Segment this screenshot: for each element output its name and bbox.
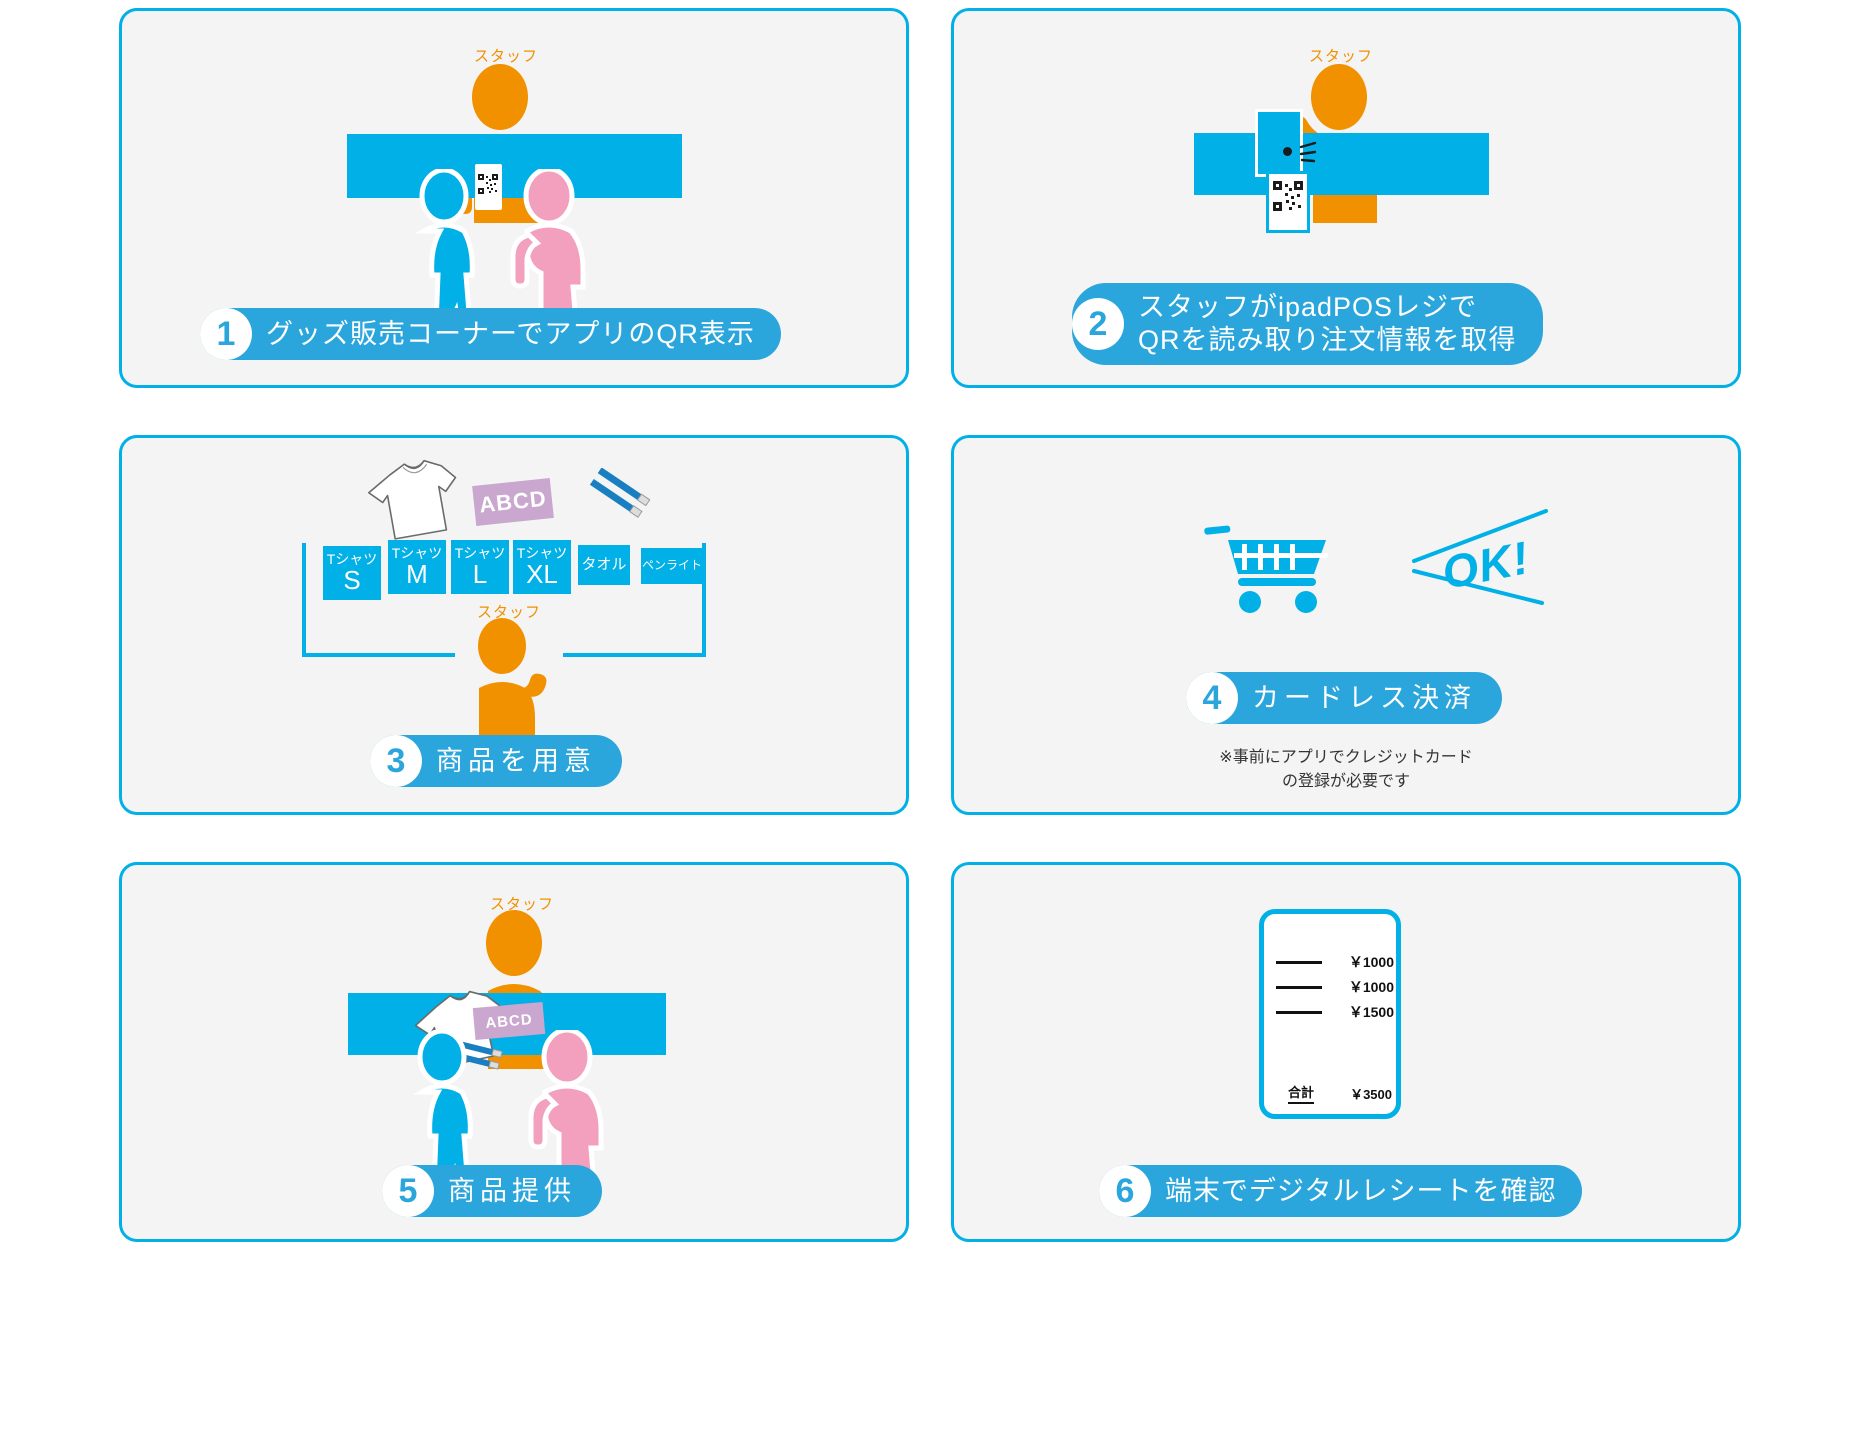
receipt-row: ￥1500 — [1276, 1002, 1394, 1022]
step-panel-4: OK! 4 カードレス決済 ※事前にアプリでクレジットカード の登録が必要です — [951, 435, 1741, 815]
receipt-item-price: ￥1000 — [1349, 952, 1394, 972]
step-panel-6: ￥1000 ￥1000 ￥1500 合計 ￥3500 6 端末でデジタルレシート… — [951, 862, 1741, 1242]
step-text-1: グッズ販売コーナーでアプリのQR表示 — [266, 318, 755, 351]
abcd-placard: ABCD — [472, 478, 554, 526]
step-text-2: スタッフがipadPOSレジで QRを読み取り注文情報を取得 — [1138, 291, 1517, 357]
counter-bar — [1194, 133, 1489, 195]
step-text-2-line2: QRを読み取り注文情報を取得 — [1138, 324, 1517, 357]
receipt-item-line — [1276, 1011, 1322, 1014]
receipt-total-label: 合計 — [1288, 1082, 1314, 1104]
digital-receipt: ￥1000 ￥1000 ￥1500 合計 ￥3500 — [1259, 909, 1401, 1119]
step-label-2: 2 スタッフがipadPOSレジで QRを読み取り注文情報を取得 — [1072, 283, 1543, 365]
flow-diagram-grid: スタッフ — [0, 0, 1860, 1454]
step-label-6: 6 端末でデジタルレシートを確認 — [1099, 1165, 1582, 1217]
step-number-3: 3 — [370, 735, 422, 787]
receipt-total-price: ￥3500 — [1350, 1084, 1392, 1103]
tshirt-icon — [358, 447, 482, 555]
step-label-4: 4 カードレス決済 — [1186, 672, 1502, 724]
step-label-5: 5 商品提供 — [382, 1165, 602, 1217]
step-panel-2: スタッフ — [951, 8, 1741, 388]
camera-lens-icon — [1283, 147, 1292, 156]
step-text-3: 商品を用意 — [436, 745, 596, 778]
step-number-1: 1 — [200, 308, 252, 360]
receipt-item-line — [1276, 986, 1322, 989]
step-panel-3: ABCD Tシャツ S Tシャツ M Tシャツ L — [119, 435, 909, 815]
step-number-6: 6 — [1099, 1165, 1151, 1217]
step-label-1: 1 グッズ販売コーナーでアプリのQR表示 — [200, 308, 781, 360]
receipt-total-row: 合計 ￥3500 — [1288, 1082, 1392, 1104]
step-panel-5: スタッフ ABCD — [119, 862, 909, 1242]
step-text-6: 端末でデジタルレシートを確認 — [1165, 1175, 1556, 1208]
step-panel-1: スタッフ — [119, 8, 909, 388]
step-text-4: カードレス決済 — [1252, 682, 1476, 715]
emphasis-lines-icon — [1394, 493, 1574, 633]
step-number-5: 5 — [382, 1165, 434, 1217]
receipt-item-price: ￥1500 — [1349, 1002, 1394, 1022]
step-text-5: 商品提供 — [448, 1175, 576, 1208]
receipt-item-price: ￥1000 — [1349, 977, 1394, 997]
shopping-cart-icon — [1194, 518, 1394, 688]
penlight-icon — [582, 468, 662, 528]
ipad-pos-device — [1255, 109, 1303, 177]
step-note-4: ※事前にアプリでクレジットカード の登録が必要です — [954, 746, 1738, 794]
receipt-row: ￥1000 — [1276, 952, 1394, 972]
receipt-item-line — [1276, 961, 1322, 964]
step-label-3: 3 商品を用意 — [370, 735, 622, 787]
qr-code-icon — [1273, 181, 1303, 211]
receipt-row: ￥1000 — [1276, 977, 1394, 997]
step-number-2: 2 — [1072, 298, 1124, 350]
step-text-2-line1: スタッフがipadPOSレジで — [1138, 291, 1517, 324]
step-number-4: 4 — [1186, 672, 1238, 724]
